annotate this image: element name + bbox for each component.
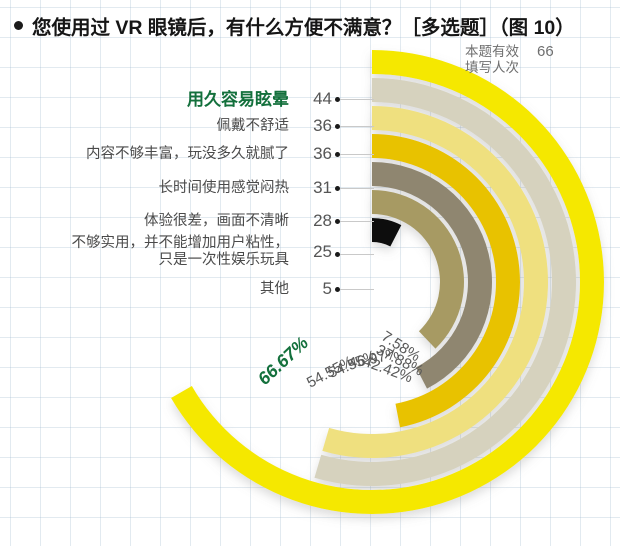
- category-value-1: 44: [298, 89, 332, 109]
- category-row-4[interactable]: 长时间使用感觉闷热31: [159, 178, 333, 198]
- leader-dot-2: [335, 124, 340, 129]
- category-value-7: 5: [298, 279, 332, 299]
- page-title: 您使用过 VR 眼镜后，有什么方便不满意？［多选题］（图 10）: [14, 11, 575, 40]
- category-row-6[interactable]: 不够实用，并不能增加用户粘性， 只是一次性娱乐玩具25: [72, 235, 333, 269]
- leader-dot-6: [335, 252, 340, 257]
- leader-line-3: [340, 154, 374, 155]
- leader-line-4: [340, 188, 374, 189]
- valid-responses-count: 66: [537, 44, 554, 60]
- category-label-4: 长时间使用感觉闷热: [159, 180, 290, 197]
- leader-line-5: [340, 221, 374, 222]
- leader-dot-4: [335, 186, 340, 191]
- percent-label-1: 66.67%: [253, 333, 312, 390]
- category-label-2: 佩戴不舒适: [217, 118, 290, 135]
- title-text: 您使用过 VR 眼镜后，有什么方便不满意？［多选题］（图 10）: [32, 11, 575, 40]
- leader-dot-3: [335, 152, 340, 157]
- bullet-dot-icon: [14, 21, 23, 30]
- leader-line-7: [340, 289, 374, 290]
- leader-line-6: [340, 254, 374, 255]
- leader-dot-7: [335, 287, 340, 292]
- category-value-6: 25: [298, 242, 332, 262]
- category-label-6: 不够实用，并不能增加用户粘性， 只是一次性娱乐玩具: [72, 235, 290, 269]
- category-value-2: 36: [298, 116, 332, 136]
- category-label-5: 体验很差，画面不清晰: [144, 213, 289, 230]
- category-row-2[interactable]: 佩戴不舒适36: [217, 116, 333, 136]
- leader-dot-5: [335, 219, 340, 224]
- category-label-1: 用久容易眩晕: [187, 91, 289, 108]
- valid-responses-block: 本题有效 填写人次 66: [465, 44, 554, 76]
- category-value-3: 36: [298, 144, 332, 164]
- category-label-3: 内容不够丰富，玩没多久就腻了: [86, 146, 289, 163]
- category-value-4: 31: [298, 178, 332, 198]
- category-value-5: 28: [298, 211, 332, 231]
- leader-line-1: [340, 99, 374, 100]
- category-row-7[interactable]: 其他5: [260, 279, 332, 299]
- category-label-7: 其他: [260, 281, 289, 298]
- category-row-1[interactable]: 用久容易眩晕44: [187, 89, 332, 109]
- leader-dot-1: [335, 97, 340, 102]
- category-row-5[interactable]: 体验很差，画面不清晰28: [144, 211, 332, 231]
- category-row-3[interactable]: 内容不够丰富，玩没多久就腻了36: [86, 144, 332, 164]
- valid-responses-label: 本题有效 填写人次: [465, 44, 519, 76]
- leader-line-2: [340, 126, 374, 127]
